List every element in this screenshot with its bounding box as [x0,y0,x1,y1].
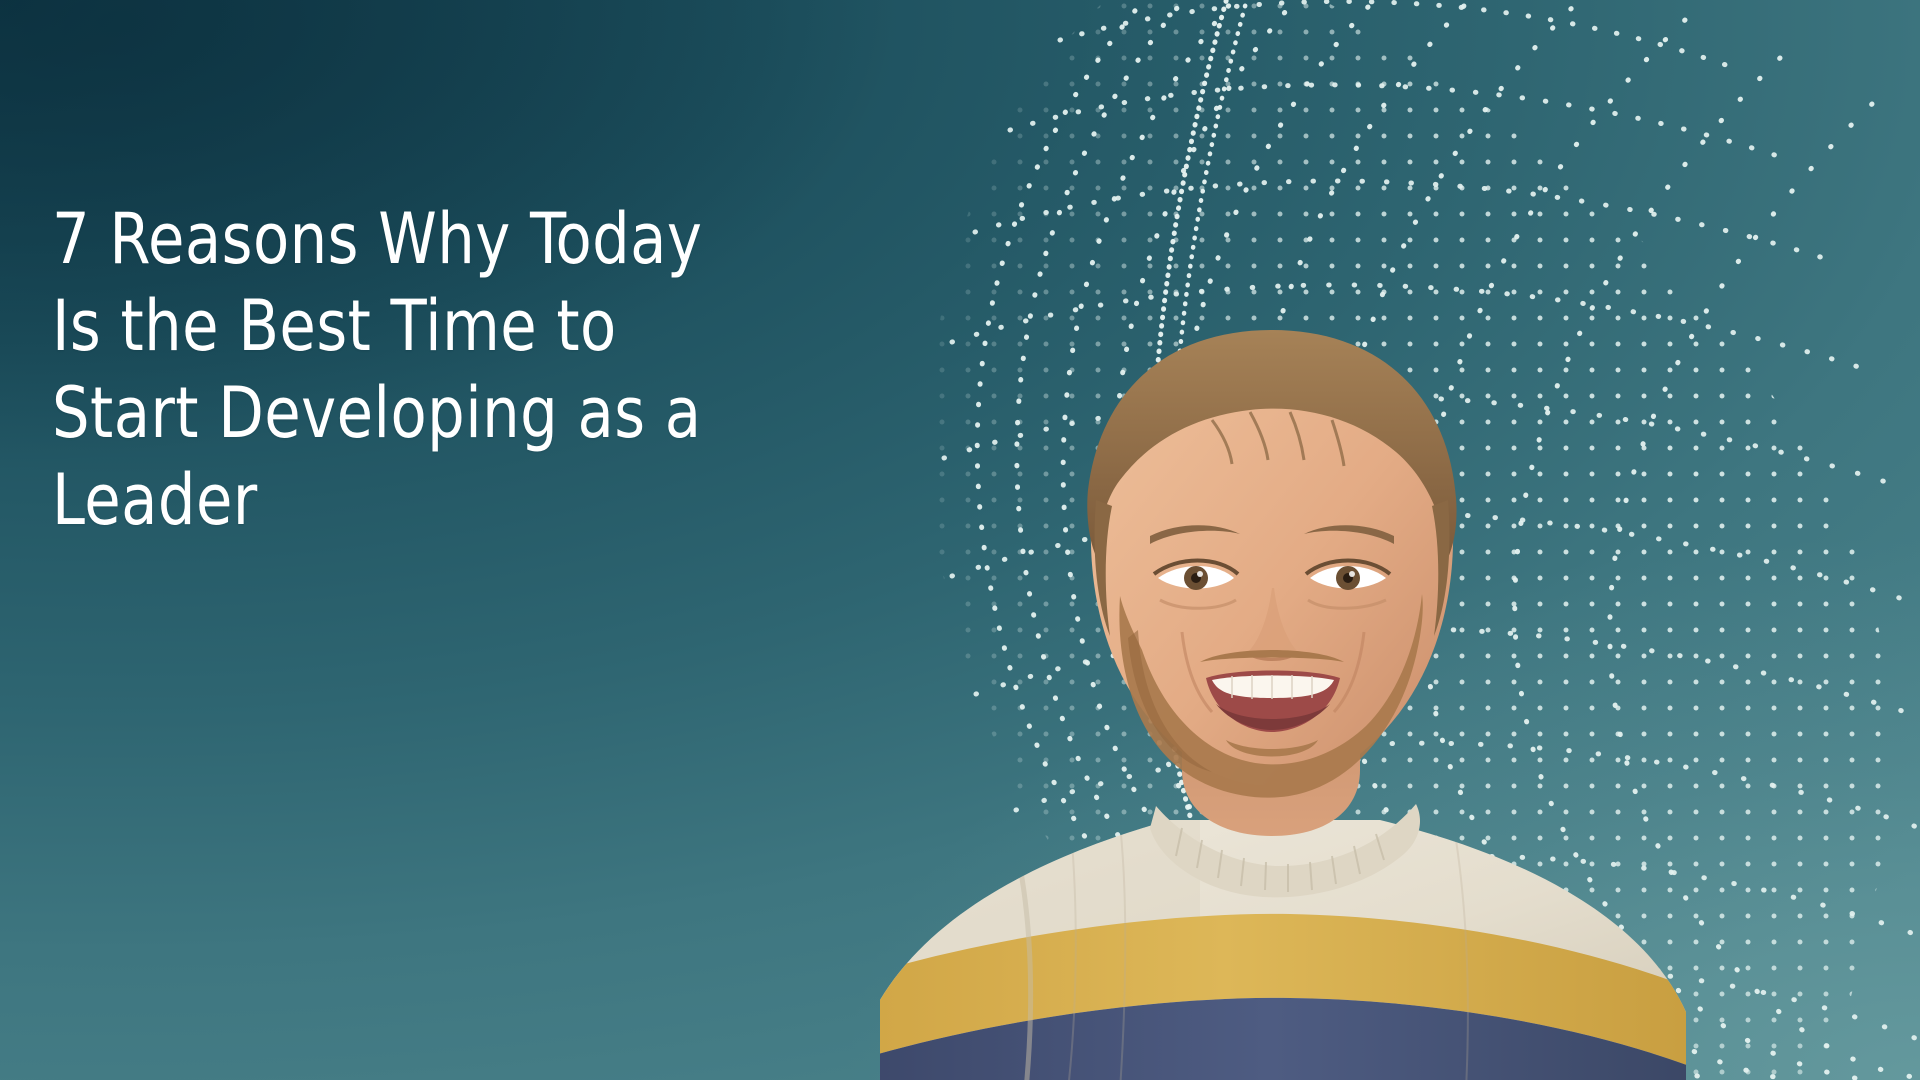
headline-line-4: Leader [52,457,898,544]
headline: 7 Reasons Why Today Is the Best Time to … [52,196,952,544]
headline-line-2: Is the Best Time to [52,283,898,370]
smiling-man-portrait [820,300,1720,1080]
hero-banner: 7 Reasons Why Today Is the Best Time to … [0,0,1920,1080]
headline-line-3: Start Developing as a [52,370,898,457]
headline-line-1: 7 Reasons Why Today [52,196,898,283]
